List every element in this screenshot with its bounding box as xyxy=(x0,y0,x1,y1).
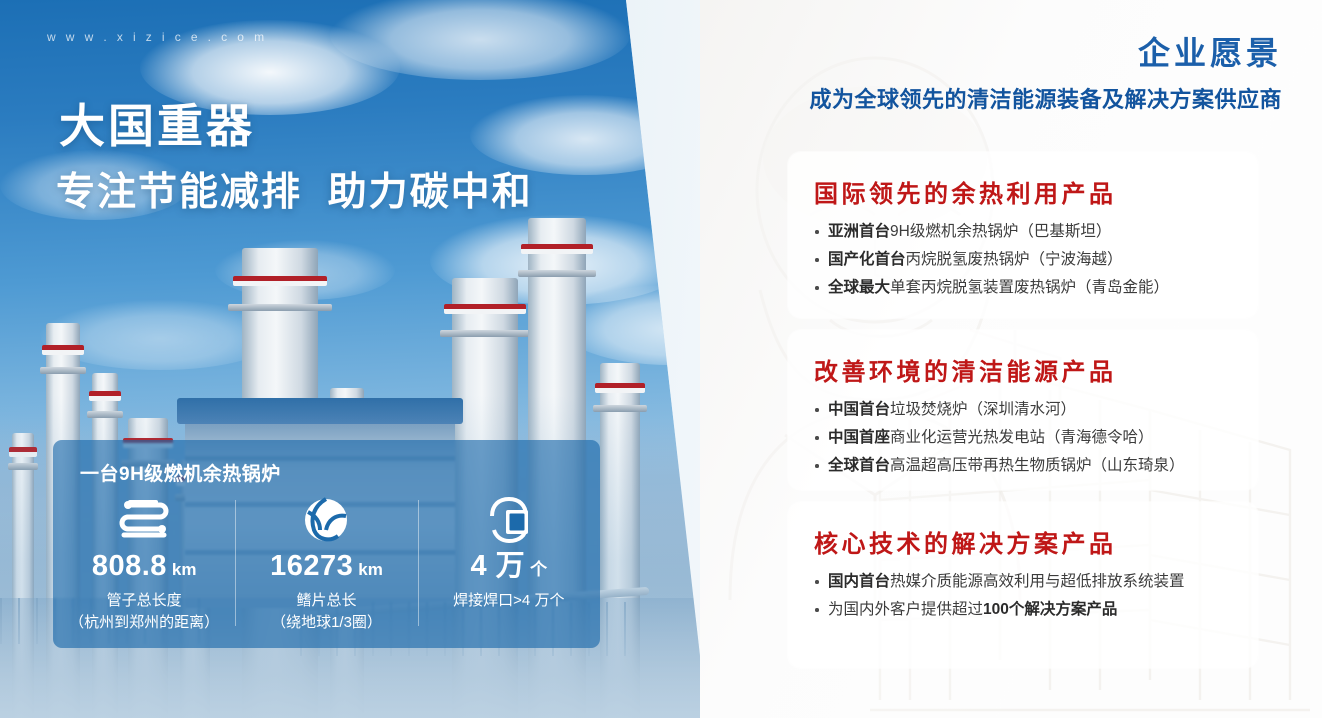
card-bullet-item: 中国首座商业化运营光热发电站（青海德令哈） xyxy=(814,424,1244,452)
card-bullet-item: 亚洲首台9H级燃机余热锅炉（巴基斯坦） xyxy=(814,218,1244,246)
stat-item: 16273km鳍片总长（绕地球1/3圈） xyxy=(235,496,417,634)
vision-panel: 企业愿景 成为全球领先的清洁能源装备及解决方案供应商 国际领先的余热利用产品 亚… xyxy=(700,0,1322,718)
site-url-watermark: w w w . x i z i c e . c o m xyxy=(47,30,267,44)
bullet-text: 垃圾焚烧炉（深圳清水河） xyxy=(890,401,1076,418)
stat-label: 鳍片总长（绕地球1/3圈） xyxy=(271,590,382,634)
card-bullet-item: 国产化首台丙烷脱氢废热锅炉（宁波海越） xyxy=(814,246,1244,274)
card-title: 国际领先的余热利用产品 xyxy=(814,174,1117,209)
bullet-text: 为国内外客户提供超过 xyxy=(828,601,983,618)
hero-subheadline: 专注节能减排 助力碳中和 xyxy=(56,170,533,217)
stat-number: 4 万 xyxy=(470,550,525,582)
stats-row: 808.8km管子总长度（杭州到郑州的距离）16273km鳍片总长（绕地球1/3… xyxy=(53,496,600,634)
stat-unit: km xyxy=(172,560,197,579)
card-bullet-list: 国内首台热媒介质能源高效利用与超低排放系统装置为国内外客户提供超过100个解决方… xyxy=(814,568,1244,624)
bullet-emphasis: 国产化首台 xyxy=(828,251,906,268)
stat-label-secondary: （绕地球1/3圈） xyxy=(271,614,382,631)
stat-label-secondary: （杭州到郑州的距离） xyxy=(69,614,219,631)
boiler-roof xyxy=(177,398,463,424)
bullet-emphasis: 亚洲首台 xyxy=(828,223,890,240)
bullet-emphasis: 中国首座 xyxy=(828,429,890,446)
bullet-text: 9H级燃机余热锅炉（巴基斯坦） xyxy=(890,223,1111,240)
bullet-text: 丙烷脱氢废热锅炉（宁波海越） xyxy=(906,251,1123,268)
stat-label: 焊接焊口>4 万个 xyxy=(453,590,564,612)
globe-fin-icon xyxy=(302,496,350,544)
card-title: 核心技术的解决方案产品 xyxy=(814,524,1117,559)
card-bullet-list: 亚洲首台9H级燃机余热锅炉（巴基斯坦）国产化首台丙烷脱氢废热锅炉（宁波海越）全球… xyxy=(814,218,1244,303)
card-bullet-item: 为国内外客户提供超过100个解决方案产品 xyxy=(814,596,1244,624)
welding-helmet-icon xyxy=(486,496,532,544)
hero-headline: 大国重器 xyxy=(59,100,255,153)
bullet-emphasis: 中国首台 xyxy=(828,401,890,418)
stat-item: 4 万个焊接焊口>4 万个 xyxy=(418,496,600,612)
stats-panel-title: 一台9H级燃机余热锅炉 xyxy=(80,459,281,486)
card-bullet-item: 全球首台高温超高压带再热生物质锅炉（山东琦泉） xyxy=(814,452,1244,480)
bullet-text: 高温超高压带再热生物质锅炉（山东琦泉） xyxy=(890,457,1185,474)
hero-photo-panel: w w w . x i z i c e . c o m 大国重器 专注节能减排 … xyxy=(0,0,760,718)
stat-value: 4 万个 xyxy=(470,552,547,581)
bullet-emphasis: 100个解决方案产品 xyxy=(983,601,1117,618)
page-title: 企业愿景 xyxy=(1138,28,1282,74)
card-bullet-list: 中国首台垃圾焚烧炉（深圳清水河）中国首座商业化运营光热发电站（青海德令哈）全球首… xyxy=(814,396,1244,481)
page-subtitle: 成为全球领先的清洁能源装备及解决方案供应商 xyxy=(809,82,1282,114)
stat-number: 808.8 xyxy=(92,550,167,582)
bullet-emphasis: 国内首台 xyxy=(828,573,890,590)
stat-unit: 个 xyxy=(530,560,547,579)
card-bullet-item: 全球最大单套丙烷脱氢装置废热锅炉（青岛金能） xyxy=(814,274,1244,302)
serpentine-pipe-icon xyxy=(116,496,172,544)
vision-card: 国际领先的余热利用产品 亚洲首台9H级燃机余热锅炉（巴基斯坦）国产化首台丙烷脱氢… xyxy=(788,152,1258,318)
card-bullet-item: 国内首台热媒介质能源高效利用与超低排放系统装置 xyxy=(814,568,1244,596)
bullet-text: 商业化运营光热发电站（青海德令哈） xyxy=(890,429,1154,446)
slide-root: w w w . x i z i c e . c o m 大国重器 专注节能减排 … xyxy=(0,0,1322,718)
stat-value: 808.8km xyxy=(92,552,197,581)
stat-label: 管子总长度（杭州到郑州的距离） xyxy=(69,590,219,634)
stat-value: 16273km xyxy=(270,552,383,581)
card-bullet-item: 中国首台垃圾焚烧炉（深圳清水河） xyxy=(814,396,1244,424)
stats-panel: 一台9H级燃机余热锅炉 808.8km管子总长度（杭州到郑州的距离）16273k… xyxy=(53,440,600,648)
stat-number: 16273 xyxy=(270,550,353,582)
card-title: 改善环境的清洁能源产品 xyxy=(814,352,1117,387)
bullet-text: 单套丙烷脱氢装置废热锅炉（青岛金能） xyxy=(890,279,1169,296)
vision-card: 改善环境的清洁能源产品 中国首台垃圾焚烧炉（深圳清水河）中国首座商业化运营光热发… xyxy=(788,330,1258,490)
bullet-emphasis: 全球最大 xyxy=(828,279,890,296)
vision-card: 核心技术的解决方案产品 国内首台热媒介质能源高效利用与超低排放系统装置为国内外客… xyxy=(788,502,1258,668)
bullet-emphasis: 全球首台 xyxy=(828,457,890,474)
stat-unit: km xyxy=(358,560,383,579)
bullet-text: 热媒介质能源高效利用与超低排放系统装置 xyxy=(890,573,1185,590)
stat-item: 808.8km管子总长度（杭州到郑州的距离） xyxy=(53,496,235,634)
